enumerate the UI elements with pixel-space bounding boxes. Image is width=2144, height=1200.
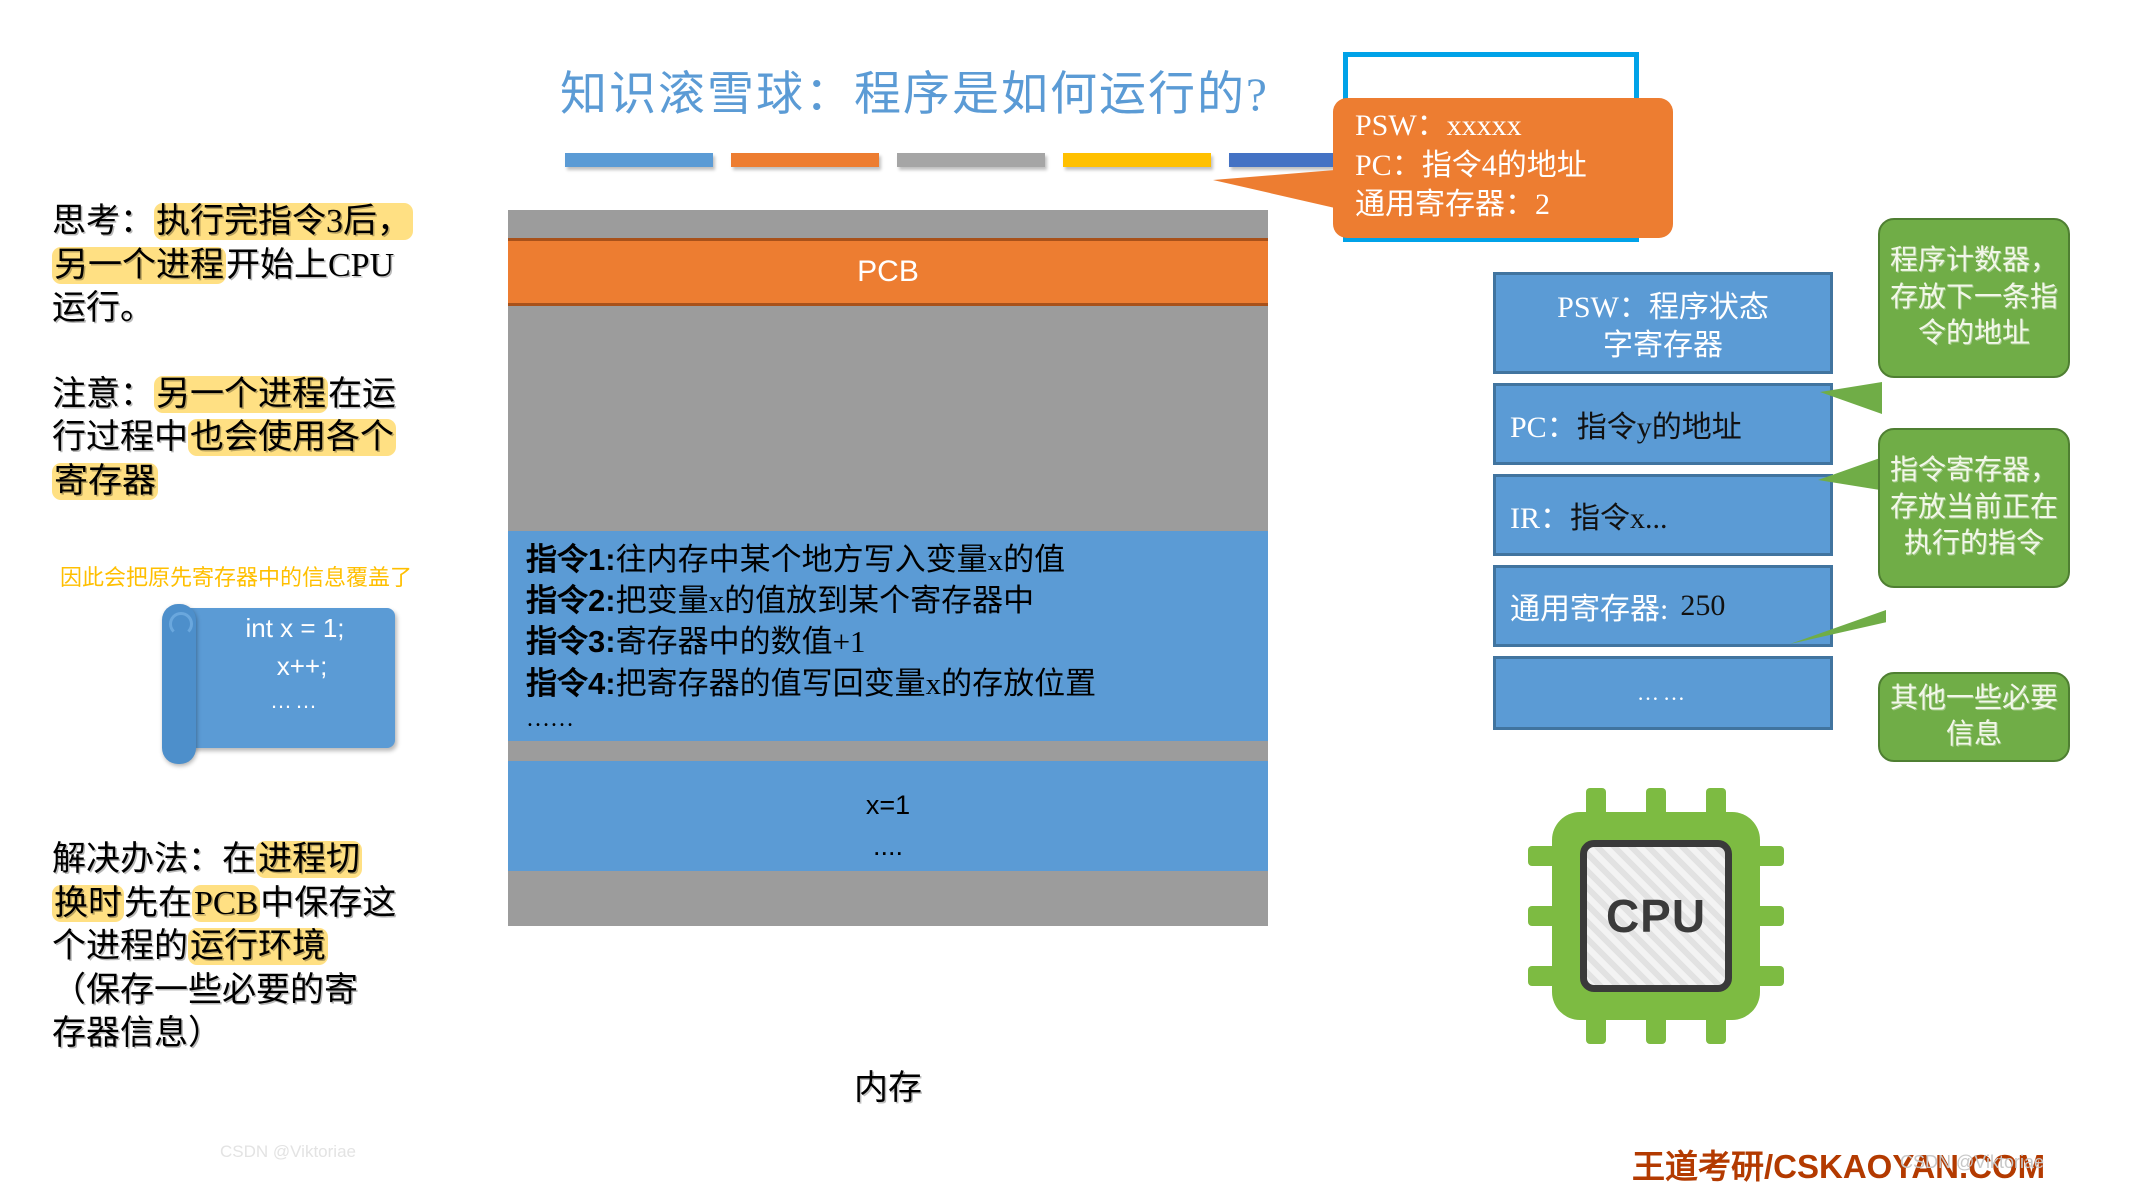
register-general-label: 通用寄存器:	[1510, 584, 1668, 628]
register-pc-value: 指令y的地址	[1577, 402, 1742, 446]
instruction-number: 指令3:	[526, 624, 616, 659]
watermark-secondary: CSDN @Viktoriae	[220, 1142, 356, 1162]
title-bar-3	[897, 153, 1045, 167]
register-psw-label: PSW：程序状态	[1510, 289, 1816, 327]
note-attention-highlight-1: 另一个进程	[154, 376, 328, 413]
pcb-callout-line-2: PC：指令4的地址	[1355, 146, 1673, 186]
memory-data-line-2: ....	[508, 826, 1268, 867]
note-think-line3: 运行。	[52, 290, 154, 327]
left-notes-column: 思考：执行完指令3后， 另一个进程开始上CPU 运行。 注意：另一个进程在运 行…	[52, 200, 472, 503]
instruction-text: 往内存中某个地方写入变量x的值	[616, 542, 1066, 577]
green-callout-2-tail	[1818, 458, 1880, 490]
code-line-2: x++;	[200, 648, 390, 686]
instruction-text: 把寄存器的值写回变量x的存放位置	[616, 666, 1097, 701]
note-solution-highlight-4: 运行环境	[188, 928, 328, 965]
instruction-row: 指令1:往内存中某个地方写入变量x的值	[526, 539, 1258, 580]
note-solution-highlight-3: PCB	[192, 885, 260, 922]
cpu-icon: CPU	[1528, 788, 1784, 1044]
note-attention-highlight-2: 也会使用各个	[188, 419, 396, 456]
note-attention: 注意：另一个进程在运 行过程中也会使用各个 寄存器	[52, 373, 472, 504]
note-attention-label: 注意：	[52, 376, 154, 413]
instruction-number: 指令2:	[526, 583, 616, 618]
register-ir-label: IR：	[1510, 493, 1570, 537]
register-ir: IR： 指令x...	[1493, 474, 1833, 556]
instruction-text: 寄存器中的数值+1	[616, 624, 866, 659]
memory-segment-bottom	[508, 871, 1268, 926]
register-psw: PSW：程序状态 字寄存器	[1493, 272, 1833, 374]
register-general: 通用寄存器: 250	[1493, 565, 1833, 647]
memory-segment-data: x=1 ....	[508, 761, 1268, 871]
slide-canvas: 知识滚雪球：程序是如何运行的? 思考：执行完指令3后， 另一个进程开始上CPU …	[0, 0, 2144, 1200]
note-attention-mid: 在运	[328, 376, 396, 413]
cpu-chip-die: CPU	[1580, 840, 1732, 992]
note-solution-highlight-2: 换时	[52, 885, 124, 922]
footer-brand-cn: 王道考研	[1632, 1150, 1764, 1186]
register-more: ……	[1493, 656, 1833, 730]
memory-caption: 内存	[508, 1060, 1268, 1109]
title-decorative-bars	[565, 153, 1377, 167]
memory-data-line-1: x=1	[508, 785, 1268, 826]
pcb-label: PCB	[857, 255, 919, 289]
note-think: 思考：执行完指令3后， 另一个进程开始上CPU 运行。	[52, 200, 472, 331]
instruction-text: 把变量x的值放到某个寄存器中	[616, 583, 1035, 618]
note-think-rest: 开始上CPU	[226, 247, 394, 284]
instruction-number: 指令1:	[526, 542, 616, 577]
memory-segment-pcb: PCB	[508, 238, 1268, 306]
note-solution-d: 个进程的	[52, 928, 188, 965]
memory-segment-mid	[508, 741, 1268, 761]
register-more-label: ……	[1637, 680, 1689, 706]
note-solution-f: 存器信息）	[52, 1015, 222, 1052]
title-bar-4	[1063, 153, 1211, 167]
green-callout-pc: 程序计数器，存放下一条指令的地址	[1878, 218, 2070, 378]
green-callout-pc-text: 程序计数器，存放下一条指令的地址	[1890, 243, 2058, 352]
note-overwrite-warning: 因此会把原先寄存器中的信息覆盖了	[60, 560, 530, 592]
green-callout-other-text: 其他一些必要信息	[1890, 681, 2058, 754]
title-bar-1	[565, 153, 713, 167]
note-solution-c: 中保存这	[260, 885, 396, 922]
note-think-highlight-2: 另一个进程	[52, 247, 226, 284]
instruction-list: 指令1:往内存中某个地方写入变量x的值 指令2:把变量x的值放到某个寄存器中 指…	[508, 531, 1268, 746]
note-solution-a: 在	[222, 841, 256, 878]
pcb-saved-context-callout: PSW：xxxxx PC：指令4的地址 通用寄存器：2	[1333, 98, 1673, 238]
code-scroll-text: int x = 1; x++; ……	[200, 610, 390, 717]
code-line-1: int x = 1;	[200, 610, 390, 648]
instruction-row: 指令2:把变量x的值放到某个寄存器中	[526, 580, 1258, 621]
code-scroll-roll-icon	[162, 604, 196, 764]
register-pc-label: PC：	[1510, 402, 1577, 446]
code-line-3: ……	[200, 685, 390, 717]
register-psw-label2: 字寄存器	[1510, 327, 1816, 365]
memory-diagram: PCB 指令1:往内存中某个地方写入变量x的值 指令2:把变量x的值放到某个寄存…	[508, 210, 1268, 926]
instruction-row: 指令3:寄存器中的数值+1	[526, 621, 1258, 662]
green-callout-1-tail	[1820, 382, 1882, 414]
memory-segment-top	[508, 210, 1268, 238]
green-callout-other: 其他一些必要信息	[1878, 672, 2070, 762]
cpu-label: CPU	[1606, 889, 1706, 943]
pcb-callout-line-1: PSW：xxxxx	[1355, 106, 1673, 146]
note-solution: 解决办法：在进程切 换时先在PCB中保存这 个进程的运行环境 （保存一些必要的寄…	[52, 838, 472, 1056]
note-think-label: 思考：	[52, 203, 154, 240]
callout-tail	[1213, 170, 1335, 208]
pcb-callout-line-3: 通用寄存器：2	[1355, 185, 1673, 225]
register-general-value: 250	[1680, 589, 1725, 623]
code-scroll: int x = 1; x++; ……	[160, 600, 395, 765]
note-solution-highlight-1: 进程切	[256, 841, 362, 878]
memory-segment-gap	[508, 306, 1268, 531]
green-callout-ir-text: 指令寄存器，存放当前正在执行的指令	[1890, 453, 2058, 562]
instruction-ellipsis: ……	[526, 704, 1258, 736]
note-solution-label: 解决办法：	[52, 841, 222, 878]
title-bar-2	[731, 153, 879, 167]
memory-segment-instructions: 指令1:往内存中某个地方写入变量x的值 指令2:把变量x的值放到某个寄存器中 指…	[508, 531, 1268, 741]
instruction-row: 指令4:把寄存器的值写回变量x的存放位置	[526, 663, 1258, 704]
instruction-number: 指令4:	[526, 666, 616, 701]
note-attention-highlight-3: 寄存器	[52, 463, 158, 500]
watermark: CSDN @Viktoriae	[1900, 1152, 2044, 1173]
register-ir-value: 指令x...	[1570, 493, 1668, 537]
green-callout-ir: 指令寄存器，存放当前正在执行的指令	[1878, 428, 2070, 588]
solution-notes: 解决办法：在进程切 换时先在PCB中保存这 个进程的运行环境 （保存一些必要的寄…	[52, 838, 472, 1056]
note-attention-line2a: 行过程中	[52, 419, 188, 456]
note-think-highlight-1: 执行完指令3后，	[154, 203, 413, 240]
note-solution-e: （保存一些必要的寄	[52, 972, 358, 1009]
memory-data-block: x=1 ....	[508, 761, 1268, 866]
cpu-register-stack: PSW：程序状态 字寄存器 PC： 指令y的地址 IR： 指令x... 通用寄存…	[1493, 272, 1833, 739]
register-pc: PC： 指令y的地址	[1493, 383, 1833, 465]
note-solution-b: 先在	[124, 885, 192, 922]
